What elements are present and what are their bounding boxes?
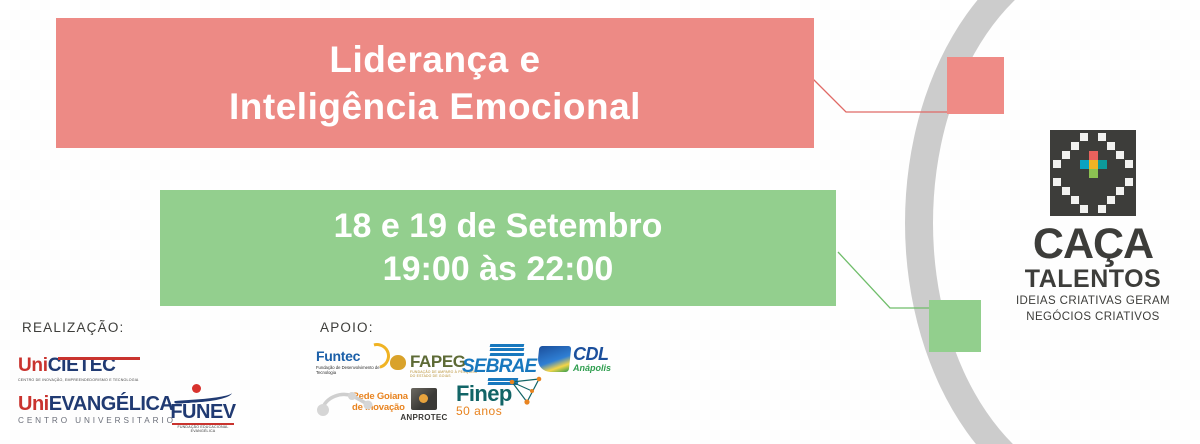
pattern-pixel (860, 120, 870, 130)
pattern-pixel (0, 100, 10, 110)
sebrae-bars-icon (490, 344, 538, 357)
pattern-pixel (140, 200, 150, 210)
pattern-pixel (560, 160, 570, 170)
pattern-pixel (880, 40, 890, 50)
pattern-pixel (1160, 380, 1170, 390)
pattern-pixel (650, 390, 660, 400)
unicietec-tagline: CENTRO DE INOVAÇÃO, EMPREENDEDORISMO E T… (18, 378, 142, 382)
pattern-pixel (790, 410, 800, 420)
pattern-pixel (450, 150, 460, 160)
pattern-pixel (950, 10, 960, 20)
pattern-pixel (50, 170, 60, 180)
pattern-pixel (730, 370, 740, 380)
pattern-pixel (620, 180, 630, 190)
pattern-pixel (1120, 440, 1130, 444)
pattern-pixel (670, 410, 680, 420)
pattern-pixel (850, 10, 860, 20)
pattern-pixel (1130, 10, 1140, 20)
pattern-pixel (20, 280, 30, 290)
pattern-pixel (300, 320, 310, 330)
pattern-pixel (120, 260, 130, 270)
pattern-pixel (300, 440, 310, 444)
pattern-pixel (90, 290, 100, 300)
pattern-pixel (280, 440, 290, 444)
pattern-pixel (660, 380, 670, 390)
pattern-pixel (340, 420, 350, 430)
pattern-pixel (790, 430, 800, 440)
pattern-pixel (890, 350, 900, 360)
pattern-pixel (0, 160, 10, 170)
pattern-pixel (870, 230, 880, 240)
pattern-pixel (30, 10, 40, 20)
pattern-pixel (920, 400, 930, 410)
pattern-pixel (680, 380, 690, 390)
pattern-pixel (170, 370, 180, 380)
pattern-pixel (380, 380, 390, 390)
pattern-pixel (60, 200, 70, 210)
pattern-pixel (750, 310, 760, 320)
pattern-pixel (1190, 170, 1200, 180)
pattern-pixel (560, 420, 570, 430)
pattern-pixel (70, 250, 80, 260)
pattern-pixel (830, 410, 840, 420)
pattern-pixel (70, 230, 80, 240)
pattern-pixel (60, 220, 70, 230)
pattern-pixel (660, 160, 670, 170)
pattern-pixel (850, 230, 860, 240)
pattern-pixel (260, 340, 270, 350)
pattern-pixel (860, 0, 870, 10)
pattern-pixel (890, 10, 900, 20)
pattern-pixel (170, 330, 180, 340)
pattern-pixel (1170, 90, 1180, 100)
pattern-pixel (20, 40, 30, 50)
pattern-pixel (820, 120, 830, 130)
pattern-pixel (850, 370, 860, 380)
pattern-pixel (280, 0, 290, 10)
pattern-pixel (540, 440, 550, 444)
pattern-pixel (390, 430, 400, 440)
pattern-pixel (690, 350, 700, 360)
pattern-pixel (40, 40, 50, 50)
pattern-pixel (150, 230, 160, 240)
pattern-pixel (40, 0, 50, 10)
pattern-pixel (110, 210, 120, 220)
pattern-pixel (110, 290, 120, 300)
pattern-pixel (690, 150, 700, 160)
pattern-pixel (890, 170, 900, 180)
pattern-pixel (840, 400, 850, 410)
logo-cross-pixel (1080, 160, 1089, 169)
pattern-pixel (890, 30, 900, 40)
pattern-pixel (290, 350, 300, 360)
pattern-pixel (380, 440, 390, 444)
pattern-pixel (90, 230, 100, 240)
pattern-pixel (230, 150, 240, 160)
pattern-pixel (100, 180, 110, 190)
pattern-pixel (270, 410, 280, 420)
pattern-pixel (30, 90, 40, 100)
pattern-pixel (1180, 80, 1190, 90)
pattern-pixel (700, 0, 710, 10)
pattern-pixel (1180, 380, 1190, 390)
pattern-pixel (70, 170, 80, 180)
pattern-pixel (1170, 330, 1180, 340)
pattern-pixel (30, 170, 40, 180)
pattern-pixel (770, 390, 780, 400)
pattern-pixel (1170, 10, 1180, 20)
pattern-pixel (740, 160, 750, 170)
pattern-pixel (350, 430, 360, 440)
brand-slogan-line1: IDEIAS CRIATIVAS GERAM (1013, 295, 1173, 308)
pattern-pixel (140, 220, 150, 230)
pattern-pixel (680, 340, 690, 350)
pattern-pixel (240, 320, 250, 330)
pattern-pixel (740, 320, 750, 330)
pattern-pixel (1180, 100, 1190, 110)
pattern-pixel (800, 180, 810, 190)
pattern-pixel (320, 180, 330, 190)
pattern-pixel (820, 340, 830, 350)
pattern-pixel (280, 340, 290, 350)
pattern-pixel (810, 350, 820, 360)
pattern-pixel (1190, 50, 1200, 60)
event-banner: Liderança e Inteligência Emocional 18 e … (0, 0, 1200, 444)
caca-talentos-logo-icon (1050, 130, 1136, 216)
pattern-pixel (130, 430, 140, 440)
pattern-pixel (20, 200, 30, 210)
pattern-pixel (630, 430, 640, 440)
pattern-pixel (330, 170, 340, 180)
pattern-pixel (170, 170, 180, 180)
pattern-pixel (360, 160, 370, 170)
pattern-pixel (40, 120, 50, 130)
pattern-pixel (50, 290, 60, 300)
pattern-pixel (140, 260, 150, 270)
pattern-pixel (850, 210, 860, 220)
pattern-pixel (840, 200, 850, 210)
pattern-pixel (580, 160, 590, 170)
pattern-pixel (100, 260, 110, 270)
pattern-pixel (110, 430, 120, 440)
pattern-pixel (140, 340, 150, 350)
pattern-pixel (40, 20, 50, 30)
pattern-pixel (1190, 90, 1200, 100)
pattern-pixel (220, 440, 230, 444)
pattern-pixel (650, 350, 660, 360)
pattern-pixel (1130, 350, 1140, 360)
pattern-pixel (540, 160, 550, 170)
pattern-pixel (300, 400, 310, 410)
pattern-pixel (620, 440, 630, 444)
pattern-pixel (260, 440, 270, 444)
pattern-pixel (640, 400, 650, 410)
pattern-pixel (770, 330, 780, 340)
pattern-pixel (790, 170, 800, 180)
pattern-pixel (1120, 100, 1130, 110)
pattern-pixel (550, 430, 560, 440)
pattern-pixel (270, 150, 280, 160)
pattern-pixel (410, 310, 420, 320)
pattern-pixel (380, 420, 390, 430)
pattern-pixel (1160, 360, 1170, 370)
pattern-pixel (260, 400, 270, 410)
pattern-pixel (50, 210, 60, 220)
pattern-pixel (350, 150, 360, 160)
green-accent-square (929, 300, 981, 352)
pattern-pixel (520, 320, 530, 330)
pattern-pixel (270, 350, 280, 360)
pattern-pixel (70, 270, 80, 280)
pattern-pixel (250, 370, 260, 380)
pattern-pixel (250, 390, 260, 400)
pattern-pixel (1160, 120, 1170, 130)
pattern-pixel (640, 0, 650, 10)
pattern-pixel (10, 250, 20, 260)
pattern-pixel (380, 0, 390, 10)
pattern-pixel (80, 340, 90, 350)
pattern-pixel (500, 440, 510, 444)
pattern-pixel (690, 310, 700, 320)
pattern-pixel (740, 380, 750, 390)
pattern-pixel (370, 430, 380, 440)
pattern-pixel (670, 370, 680, 380)
pattern-pixel (770, 430, 780, 440)
pattern-pixel (810, 410, 820, 420)
pattern-pixel (20, 20, 30, 30)
finep-tagline: 50 anos (456, 405, 542, 418)
pattern-pixel (870, 370, 880, 380)
pattern-pixel (10, 310, 20, 320)
pattern-pixel (1120, 360, 1130, 370)
pattern-pixel (910, 390, 920, 400)
pattern-pixel (870, 210, 880, 220)
pattern-pixel (160, 180, 170, 190)
pattern-pixel (90, 210, 100, 220)
pattern-pixel (610, 330, 620, 340)
pattern-pixel (260, 180, 270, 190)
pattern-pixel (260, 380, 270, 390)
pattern-pixel (900, 440, 910, 444)
pattern-pixel (830, 170, 840, 180)
pattern-pixel (750, 430, 760, 440)
pattern-pixel (250, 330, 260, 340)
pattern-pixel (440, 160, 450, 170)
pattern-pixel (900, 20, 910, 30)
pattern-pixel (370, 150, 380, 160)
pattern-pixel (20, 100, 30, 110)
pattern-pixel (10, 330, 20, 340)
pattern-pixel (760, 400, 770, 410)
pattern-pixel (130, 190, 140, 200)
pattern-pixel (790, 370, 800, 380)
pattern-pixel (430, 330, 440, 340)
pattern-pixel (910, 350, 920, 360)
pattern-pixel (30, 250, 40, 260)
pattern-pixel (550, 390, 560, 400)
pattern-pixel (880, 400, 890, 410)
pattern-pixel (570, 150, 580, 160)
pattern-pixel (720, 160, 730, 170)
pattern-pixel (580, 400, 590, 410)
pattern-pixel (40, 220, 50, 230)
pattern-pixel (120, 440, 130, 444)
pattern-pixel (190, 370, 200, 380)
logo-cross-pixel (1089, 160, 1098, 169)
pattern-pixel (750, 170, 760, 180)
pattern-pixel (1150, 430, 1160, 440)
pattern-pixel (870, 350, 880, 360)
pattern-pixel (400, 180, 410, 190)
pattern-pixel (310, 170, 320, 180)
pattern-pixel (670, 390, 680, 400)
pattern-pixel (860, 180, 870, 190)
pattern-pixel (570, 390, 580, 400)
apoio-label: APOIO: (320, 320, 374, 335)
pattern-pixel (490, 170, 500, 180)
pattern-pixel (240, 160, 250, 170)
pattern-pixel (550, 410, 560, 420)
pattern-pixel (420, 320, 430, 330)
pattern-pixel (820, 180, 830, 190)
pattern-pixel (310, 310, 320, 320)
pattern-pixel (680, 320, 690, 330)
pattern-pixel (390, 330, 400, 340)
pattern-pixel (1170, 370, 1180, 380)
pattern-pixel (520, 160, 530, 170)
pattern-pixel (60, 280, 70, 290)
funev-tagline: FUNDAÇÃO EDUCACIONAL EVANGÉLICA (168, 425, 238, 433)
pattern-pixel (760, 160, 770, 170)
pattern-pixel (310, 430, 320, 440)
pattern-pixel (140, 180, 150, 190)
pattern-pixel (300, 160, 310, 170)
pattern-pixel (800, 160, 810, 170)
pattern-pixel (1120, 340, 1130, 350)
pattern-pixel (190, 310, 200, 320)
pattern-pixel (710, 170, 720, 180)
pattern-pixel (150, 330, 160, 340)
pattern-pixel (10, 10, 20, 20)
pattern-pixel (780, 440, 790, 444)
pattern-pixel (80, 260, 90, 270)
unievangelica-tagline: CENTRO UNIVERSITARIO (18, 416, 168, 425)
pattern-pixel (1160, 440, 1170, 444)
pattern-pixel (1190, 110, 1200, 120)
pattern-pixel (830, 430, 840, 440)
pattern-pixel (730, 310, 740, 320)
pattern-pixel (630, 390, 640, 400)
pattern-pixel (330, 150, 340, 160)
pattern-pixel (0, 20, 10, 30)
pattern-pixel (600, 380, 610, 390)
pattern-pixel (190, 350, 200, 360)
pattern-pixel (750, 410, 760, 420)
pattern-pixel (480, 320, 490, 330)
pattern-pixel (1130, 390, 1140, 400)
pattern-pixel (910, 30, 920, 40)
pattern-pixel (1190, 210, 1200, 220)
pattern-pixel (70, 310, 80, 320)
event-time-line: 19:00 às 22:00 (383, 248, 614, 291)
pattern-pixel (70, 210, 80, 220)
pattern-pixel (90, 190, 100, 200)
pattern-pixel (750, 370, 760, 380)
pattern-pixel (270, 170, 280, 180)
pattern-pixel (250, 410, 260, 420)
pattern-pixel (150, 150, 160, 160)
pattern-pixel (500, 320, 510, 330)
pattern-pixel (190, 330, 200, 340)
pattern-pixel (160, 160, 170, 170)
pattern-pixel (100, 220, 110, 230)
pattern-pixel (450, 310, 460, 320)
pattern-pixel (70, 150, 80, 160)
pattern-pixel (510, 170, 520, 180)
pattern-pixel (650, 310, 660, 320)
pattern-pixel (1180, 420, 1190, 430)
pattern-pixel (150, 170, 160, 180)
pattern-pixel (800, 0, 810, 10)
logo-pixel (1125, 160, 1133, 168)
pattern-pixel (250, 150, 260, 160)
pattern-pixel (630, 170, 640, 180)
pattern-pixel (40, 340, 50, 350)
pattern-pixel (1120, 60, 1130, 70)
pattern-pixel (390, 170, 400, 180)
pattern-pixel (310, 330, 320, 340)
pattern-pixel (1180, 40, 1190, 50)
pattern-pixel (1190, 30, 1200, 40)
pattern-pixel (50, 430, 60, 440)
pattern-pixel (700, 360, 710, 370)
pattern-pixel (560, 440, 570, 444)
pattern-pixel (840, 220, 850, 230)
pattern-pixel (330, 430, 340, 440)
pattern-pixel (190, 150, 200, 160)
logo-unievangelica: UniEVANGÉLICA CENTRO UNIVERSITARIO (18, 394, 168, 425)
pattern-pixel (840, 440, 850, 444)
pattern-pixel (160, 0, 170, 10)
pattern-pixel (1180, 160, 1190, 170)
pattern-pixel (200, 340, 210, 350)
pattern-pixel (740, 0, 750, 10)
pattern-pixel (10, 170, 20, 180)
pattern-pixel (140, 300, 150, 310)
pattern-pixel (150, 290, 160, 300)
pattern-pixel (740, 400, 750, 410)
pattern-pixel (620, 0, 630, 10)
pattern-pixel (1150, 50, 1160, 60)
pattern-pixel (680, 0, 690, 10)
pattern-pixel (210, 330, 220, 340)
pattern-pixel (10, 150, 20, 160)
pattern-pixel (150, 190, 160, 200)
pattern-pixel (90, 250, 100, 260)
pattern-pixel (630, 150, 640, 160)
pattern-pixel (550, 150, 560, 160)
pattern-pixel (30, 310, 40, 320)
pattern-pixel (700, 420, 710, 430)
pattern-pixel (670, 150, 680, 160)
pattern-pixel (880, 140, 890, 150)
pattern-pixel (610, 410, 620, 420)
pattern-pixel (220, 320, 230, 330)
pattern-pixel (100, 280, 110, 290)
pattern-pixel (100, 340, 110, 350)
pattern-pixel (580, 380, 590, 390)
pattern-pixel (800, 320, 810, 330)
